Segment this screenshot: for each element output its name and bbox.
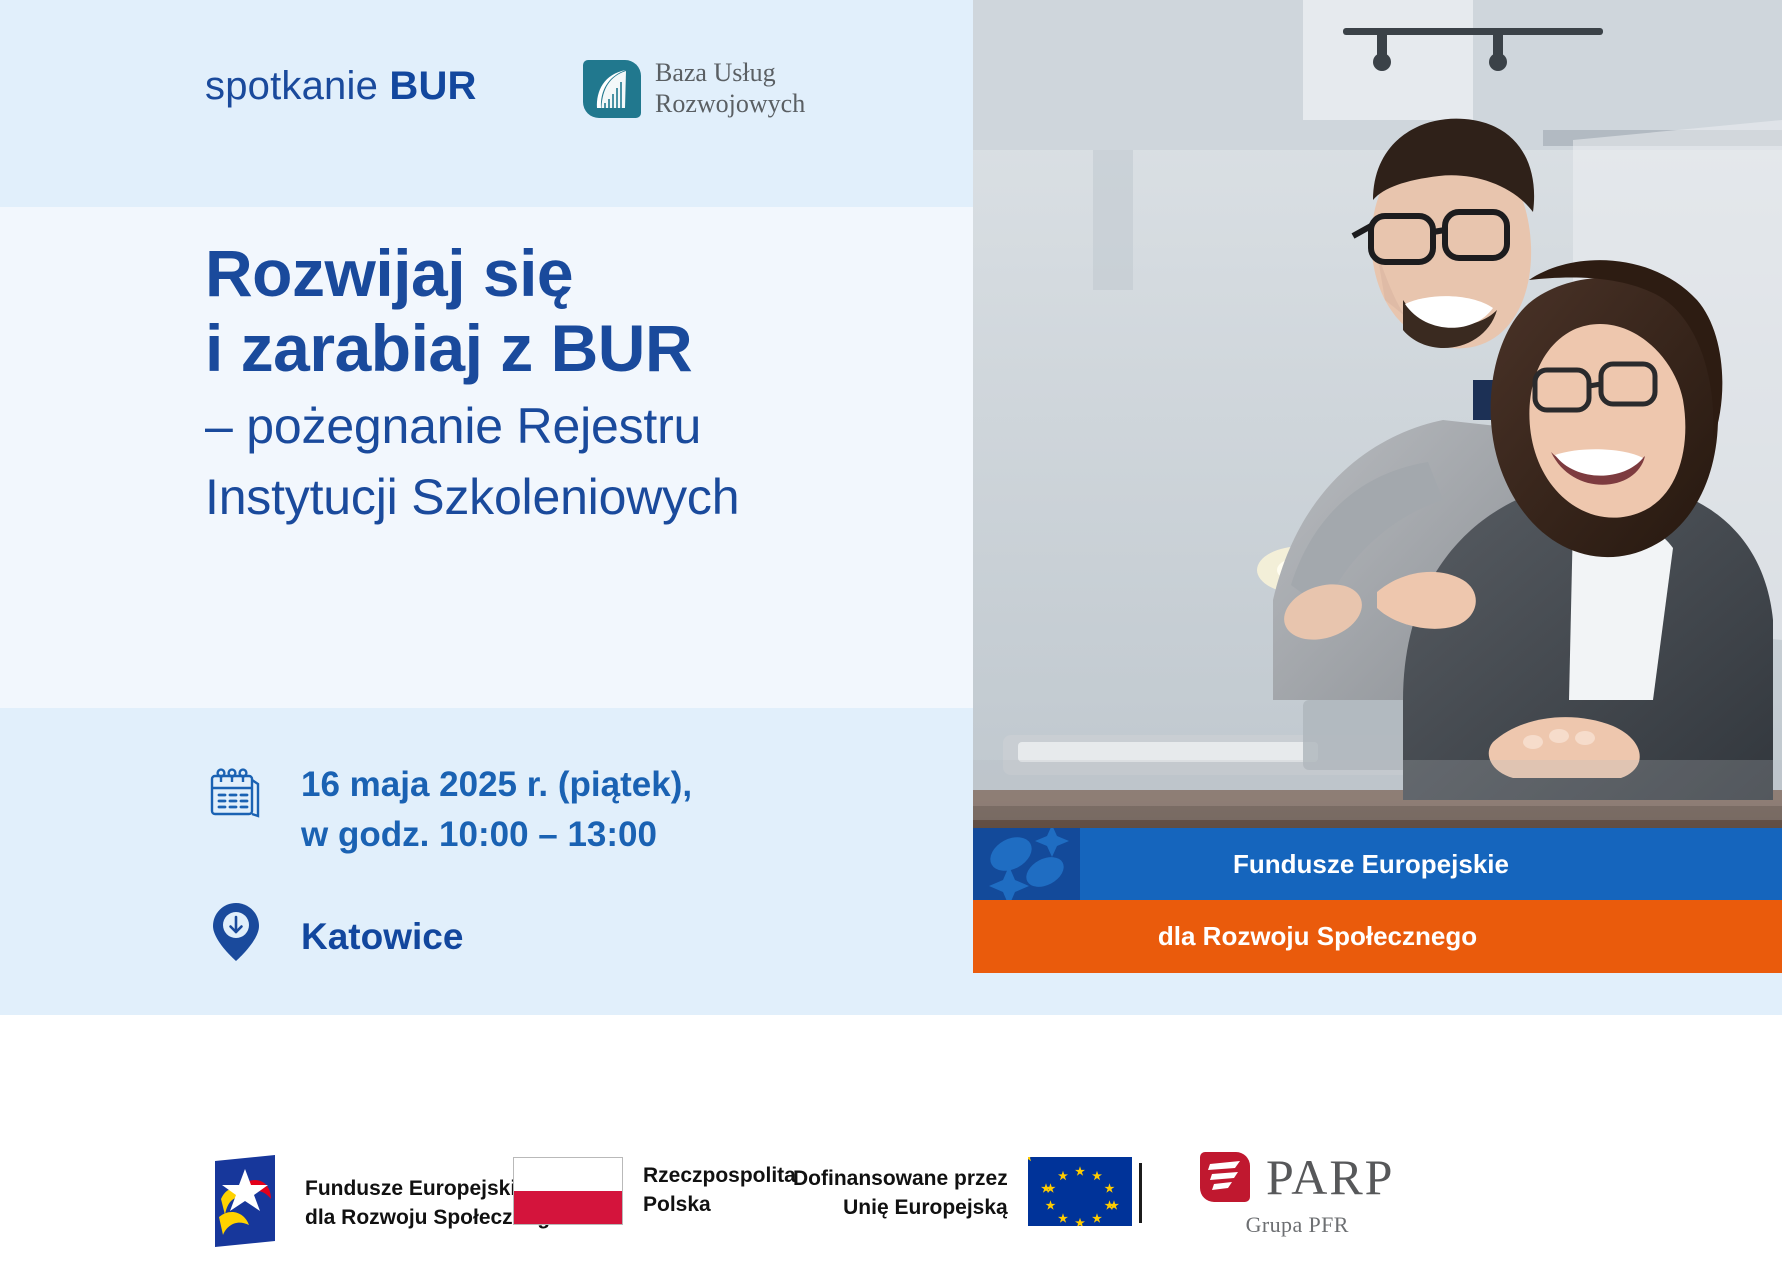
event-location-row: Katowice [205,897,945,964]
event-date-row: 16 maja 2025 r. (piątek), w godz. 10:00 … [205,760,945,859]
event-label: spotkanie BUR [205,64,477,109]
poster-canvas: spotkanie BUR Baza Usług [0,0,1782,1280]
fundusze-europejskie-flag-icon [205,1155,283,1252]
event-date-line1: 16 maja 2025 r. (piątek), [301,760,692,810]
footer-eu-logo: Dofinansowane przez Unię Europejską [793,1157,1132,1231]
fe-banner-blue-text: Fundusze Europejskie [1080,828,1782,900]
footer-divider [1139,1163,1142,1223]
footer-parp-logo: PARP Grupa PFR [1200,1152,1394,1238]
poland-label-line2: Polska [643,1191,796,1220]
poland-label-line1: Rzeczpospolita [643,1162,796,1191]
hero-photo: Fundusze Europejskie dla Rozwoju Społecz… [973,0,1782,973]
parp-sublabel: Grupa PFR [1246,1212,1349,1238]
event-date-line2: w godz. 10:00 – 13:00 [301,810,692,860]
subheadline-line-1: – pożegnanie Rejestru [205,396,945,457]
fe-banner: Fundusze Europejskie dla Rozwoju Społecz… [973,828,1782,973]
parp-logo-row: PARP [1200,1152,1394,1202]
event-label-bold: BUR [389,64,476,108]
bur-leaf-icon [583,60,641,118]
poland-flag-icon [513,1157,623,1225]
calendar-icon [205,760,267,822]
eu-flag-icon [1028,1157,1132,1231]
eu-stars-graphic [973,828,1080,900]
headline-line-2: i zarabiaj z BUR [205,311,945,386]
eu-label-line1: Dofinansowane przez [793,1165,1008,1194]
event-date-text: 16 maja 2025 r. (piątek), w godz. 10:00 … [301,760,692,859]
headline-block: Rozwijaj się i zarabiaj z BUR – pożegnan… [205,236,945,528]
fe-banner-blue-row: Fundusze Europejskie [973,828,1782,900]
bur-logo-wordmark: Baza Usług Rozwojowych [655,58,805,119]
subheadline-line-2: Instytucji Szkoleniowych [205,467,945,528]
footer-poland-logo: Rzeczpospolita Polska [513,1157,796,1225]
bur-logo-line1: Baza Usług [655,58,805,89]
headline-line-1: Rozwijaj się [205,236,945,311]
header: spotkanie BUR Baza Usług [0,0,973,207]
bur-logo-line2: Rozwojowych [655,89,805,120]
eu-label-line2: Unię Europejską [793,1194,1008,1223]
event-details: 16 maja 2025 r. (piątek), w godz. 10:00 … [205,760,945,964]
fe-banner-orange-text: dla Rozwoju Społecznego [973,900,1782,973]
parp-wordmark: PARP [1266,1152,1394,1202]
footer-fundusze-europejskie-logo: Fundusze Europejskie dla Rozwoju Społecz… [205,1155,563,1252]
bur-logo[interactable]: Baza Usług Rozwojowych [583,58,805,119]
parp-mark-icon [1200,1152,1250,1202]
event-label-light: spotkanie [205,64,378,108]
poland-label: Rzeczpospolita Polska [643,1162,796,1220]
event-location-text: Katowice [301,897,463,964]
eu-label: Dofinansowane przez Unię Europejską [793,1165,1008,1223]
map-pin-icon [205,897,267,963]
